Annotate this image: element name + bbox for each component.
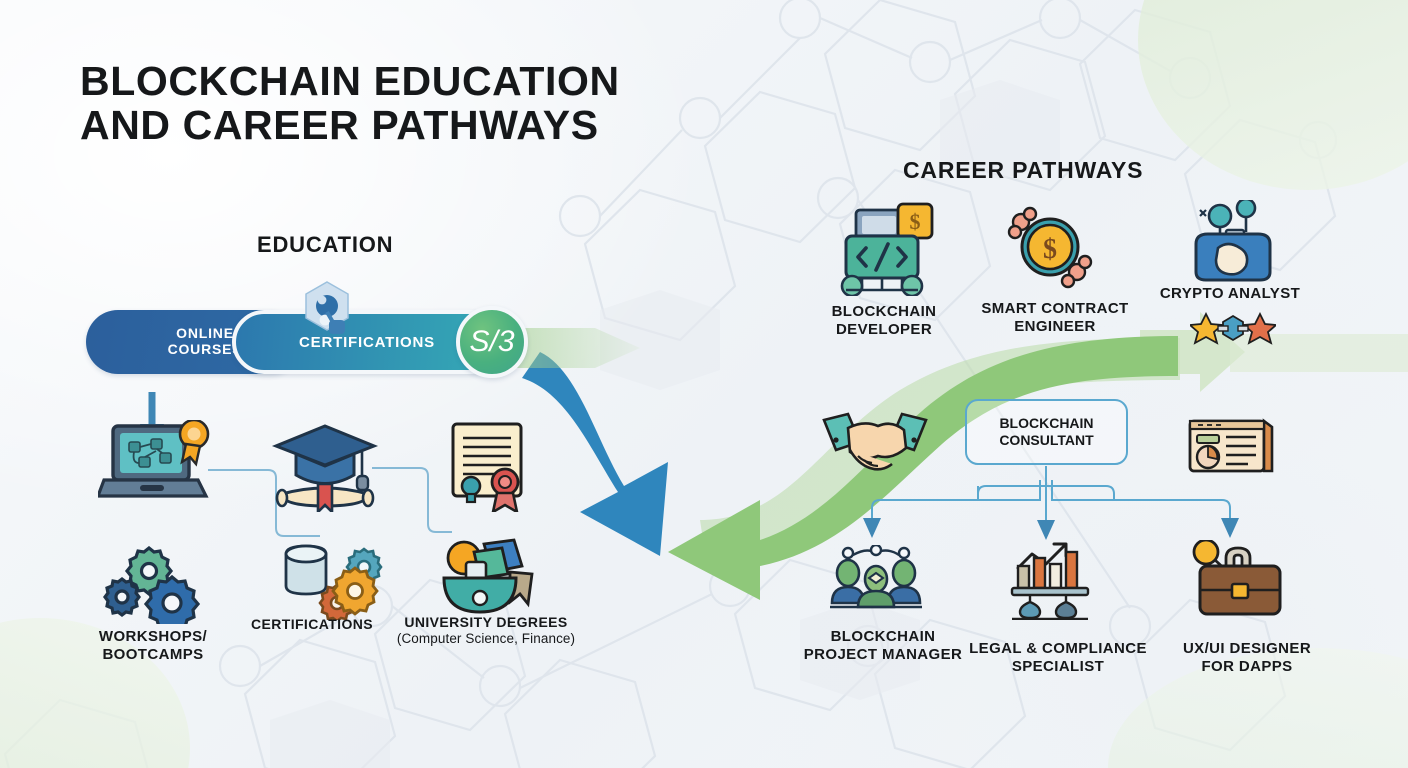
career-label-ux-ui-designer-line1: UX/UI DESIGNER xyxy=(1183,640,1311,657)
crypto-terminal-icon xyxy=(1184,200,1276,286)
career-label-blockchain-developer-line1: BLOCKCHAIN xyxy=(832,303,937,320)
svg-text:$: $ xyxy=(1043,234,1057,265)
crypto-token-badges-icon xyxy=(1190,312,1276,346)
education-label-certifications: CERTIFICATIONS xyxy=(232,616,392,633)
dashboard-report-icon xyxy=(1184,415,1274,477)
career-label-crypto-analyst: CRYPTO ANALYST xyxy=(1152,285,1308,303)
career-label-smart-contract-engineer-line1: SMART CONTRACT xyxy=(981,300,1128,317)
certificate-seal-icon xyxy=(445,420,537,512)
pipeline-badge-token[interactable]: S/3 xyxy=(456,306,528,378)
education-label-university-line1: UNIVERSITY DEGREES xyxy=(404,614,567,630)
consultant-label-line1: BLOCKCHAIN xyxy=(999,415,1093,433)
infographic-canvas: BLOCKCHAIN EDUCATION AND CAREER PATHWAYS… xyxy=(0,0,1408,768)
education-label-certifications-line1: CERTIFICATIONS xyxy=(251,616,373,632)
career-label-legal-compliance-line1: LEGAL & COMPLIANCE xyxy=(969,640,1147,657)
career-label-smart-contract-engineer-line2: ENGINEER xyxy=(1014,318,1096,335)
career-label-project-manager-line2: PROJECT MANAGER xyxy=(804,646,963,663)
code-server-dollar-icon: $ xyxy=(832,200,936,296)
page-title-line-2: AND CAREER PATHWAYS xyxy=(80,104,620,148)
career-label-legal-compliance: LEGAL & COMPLIANCE SPECIALIST xyxy=(960,640,1156,677)
education-label-workshops: WORKSHOPS/ BOOTCAMPS xyxy=(58,628,248,665)
graduation-cap-diploma-icon xyxy=(270,420,380,512)
page-title-line-1: BLOCKCHAIN EDUCATION xyxy=(80,60,620,104)
blockchain-consultant-box[interactable]: BLOCKCHAIN CONSULTANT xyxy=(965,399,1128,465)
career-section-heading: CAREER PATHWAYS xyxy=(903,157,1143,184)
career-label-project-manager: BLOCKCHAIN PROJECT MANAGER xyxy=(790,628,976,665)
svg-text:$: $ xyxy=(910,209,921,234)
briefcase-icon xyxy=(1190,540,1286,618)
career-label-project-manager-line1: BLOCKCHAIN xyxy=(831,628,936,645)
career-label-ux-ui-designer: UX/UI DESIGNER FOR DAPPS xyxy=(1158,640,1336,677)
career-label-blockchain-developer: BLOCKCHAIN DEVELOPER xyxy=(798,303,970,340)
education-label-university: UNIVERSITY DEGREES (Computer Science, Fi… xyxy=(375,614,597,648)
laptop-blockchain-icon xyxy=(98,420,216,510)
consultant-label-line2: CONSULTANT xyxy=(999,432,1093,450)
career-label-crypto-analyst-line1: CRYPTO ANALYST xyxy=(1160,285,1300,302)
education-label-workshops-line1: WORKSHOPS/ xyxy=(99,628,207,645)
career-label-blockchain-developer-line2: DEVELOPER xyxy=(836,321,932,338)
page-title: BLOCKCHAIN EDUCATION AND CAREER PATHWAYS xyxy=(80,60,620,148)
team-people-icon xyxy=(828,545,924,617)
gears-icon xyxy=(100,546,210,624)
bowl-shapes-icon xyxy=(432,530,542,618)
education-label-university-line2: (Computer Science, Finance) xyxy=(375,631,597,647)
dollar-coin-icon: $ xyxy=(1005,202,1095,294)
database-gears-icon xyxy=(276,540,384,620)
handshake-icon xyxy=(820,412,930,478)
career-label-smart-contract-engineer: SMART CONTRACT ENGINEER xyxy=(960,300,1150,337)
career-label-legal-compliance-line2: SPECIALIST xyxy=(1012,658,1104,675)
hexagon-node-icon xyxy=(298,278,356,340)
education-section-heading: EDUCATION xyxy=(257,232,393,258)
career-label-ux-ui-designer-line2: FOR DAPPS xyxy=(1201,658,1292,675)
education-label-workshops-line2: BOOTCAMPS xyxy=(102,646,203,663)
growth-chart-icon xyxy=(1008,540,1100,620)
